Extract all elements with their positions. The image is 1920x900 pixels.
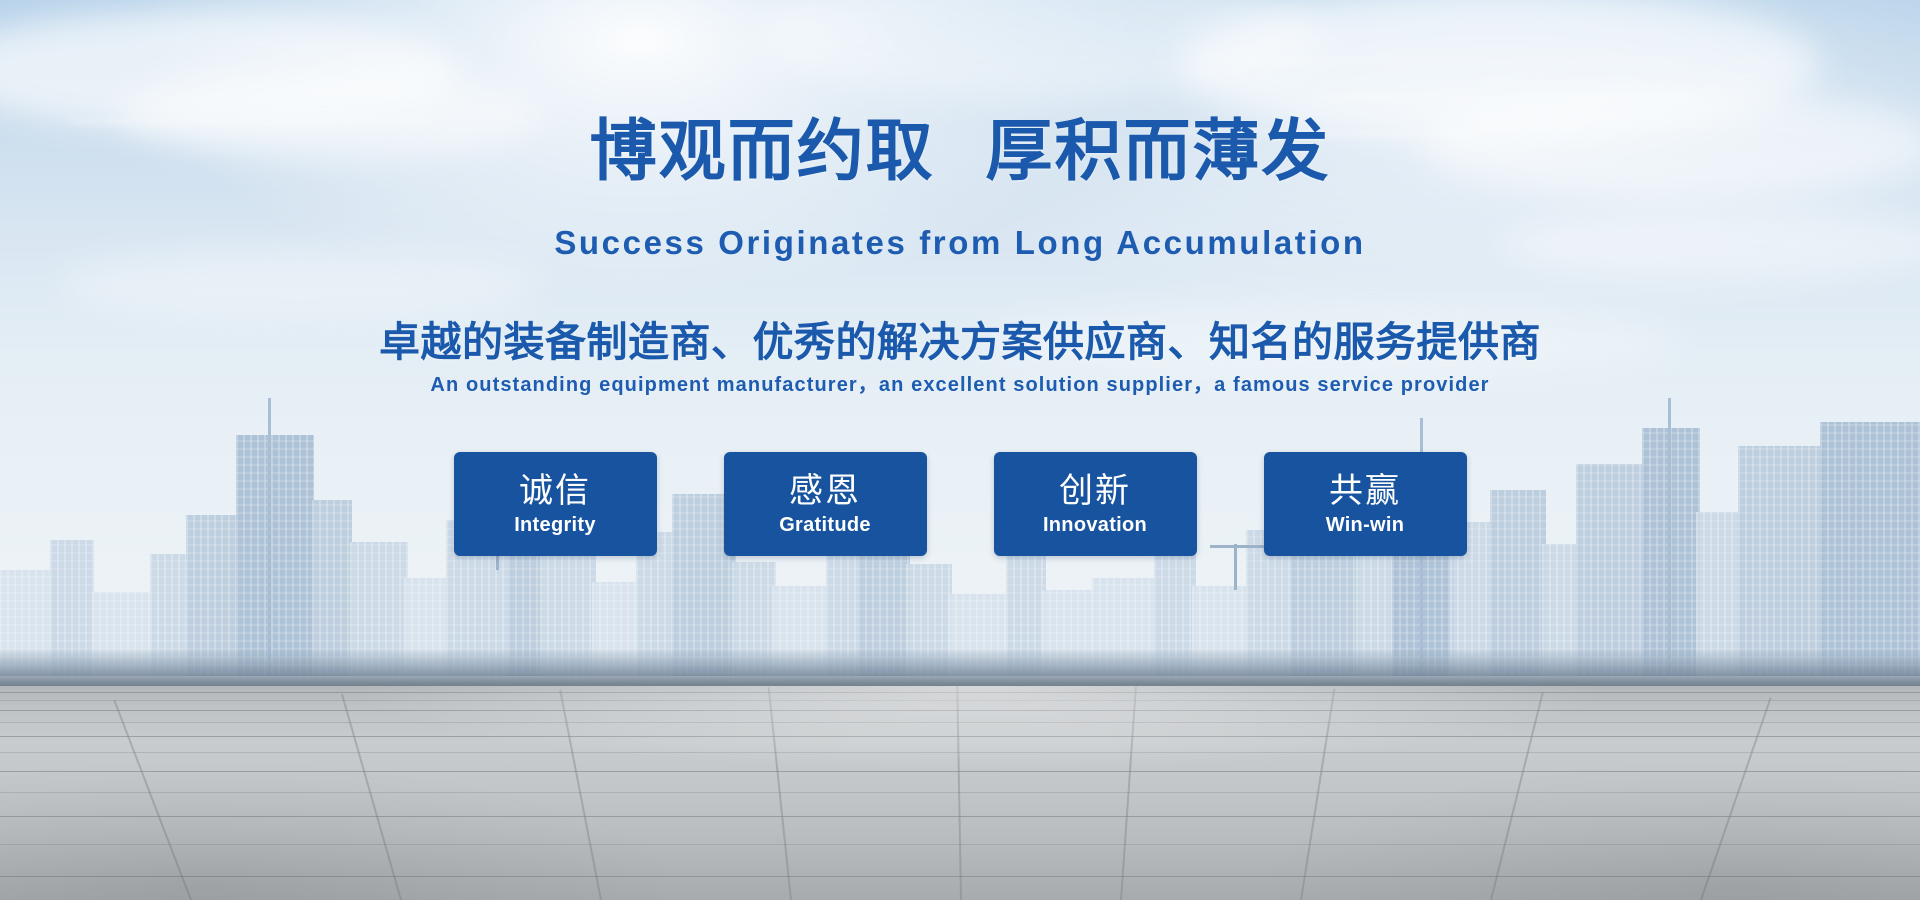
value-box-innovation[interactable]: 创新 Innovation <box>994 452 1197 556</box>
value-box-label-en: Innovation <box>1043 513 1147 537</box>
subheadline-english: An outstanding equipment manufacturer，an… <box>0 368 1920 397</box>
subheadline-chinese: 卓越的装备制造商、优秀的解决方案供应商、知名的服务提供商 <box>0 308 1920 368</box>
banner-content: 博观而约取 厚积而薄发 Success Originates from Long… <box>0 0 1920 900</box>
value-box-label-en: Integrity <box>514 513 596 537</box>
value-box-label-cn: 感恩 <box>789 472 861 510</box>
value-box-label-en: Gratitude <box>779 513 871 537</box>
value-box-row: 诚信 Integrity 感恩 Gratitude 创新 Innovation … <box>0 452 1920 556</box>
value-box-label-cn: 共赢 <box>1329 472 1401 510</box>
value-box-winwin[interactable]: 共赢 Win-win <box>1264 452 1467 556</box>
value-box-label-cn: 创新 <box>1059 472 1131 510</box>
value-box-gratitude[interactable]: 感恩 Gratitude <box>724 452 927 556</box>
value-box-integrity[interactable]: 诚信 Integrity <box>454 452 657 556</box>
headline-english: Success Originates from Long Accumulatio… <box>0 224 1920 262</box>
value-box-label-cn: 诚信 <box>519 472 591 510</box>
hero-banner: 博观而约取 厚积而薄发 Success Originates from Long… <box>0 0 1920 900</box>
headline-chinese: 博观而约取 厚积而薄发 <box>0 116 1920 186</box>
value-box-label-en: Win-win <box>1326 513 1405 537</box>
